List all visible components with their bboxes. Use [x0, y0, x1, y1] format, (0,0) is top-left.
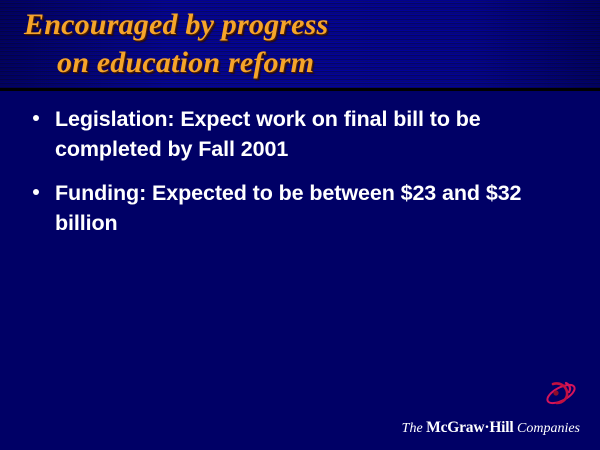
bullet-item-funding-text: Funding: Expected to be between $23 and … [55, 178, 582, 238]
wordmark-companies: Companies [514, 421, 581, 436]
mcgraw-hill-orbit-icon [544, 379, 578, 407]
bullet-item-legislation-text: Legislation: Expect work on final bill t… [55, 104, 582, 164]
mcgraw-hill-logo: The McGraw·Hill Companies [382, 379, 582, 437]
bullet-dot-icon [33, 115, 39, 121]
wordmark-brand: McGraw·Hill [426, 419, 513, 436]
wordmark-the: The [402, 421, 427, 436]
mcgraw-hill-wordmark: The McGraw·Hill Companies [402, 419, 580, 437]
slide-title-line-1: Encouraged by progress [0, 6, 600, 44]
slide-body: Legislation: Expect work on final bill t… [0, 104, 600, 252]
bullet-item-funding: Funding: Expected to be between $23 and … [0, 178, 600, 238]
bullet-dot-icon [33, 189, 39, 195]
presentation-slide: Encouraged by progress on education refo… [0, 0, 600, 450]
header-divider-line [0, 88, 600, 91]
slide-title: Encouraged by progress on education refo… [0, 6, 600, 82]
bullet-item-legislation: Legislation: Expect work on final bill t… [0, 104, 600, 164]
slide-title-line-2: on education reform [0, 44, 600, 82]
